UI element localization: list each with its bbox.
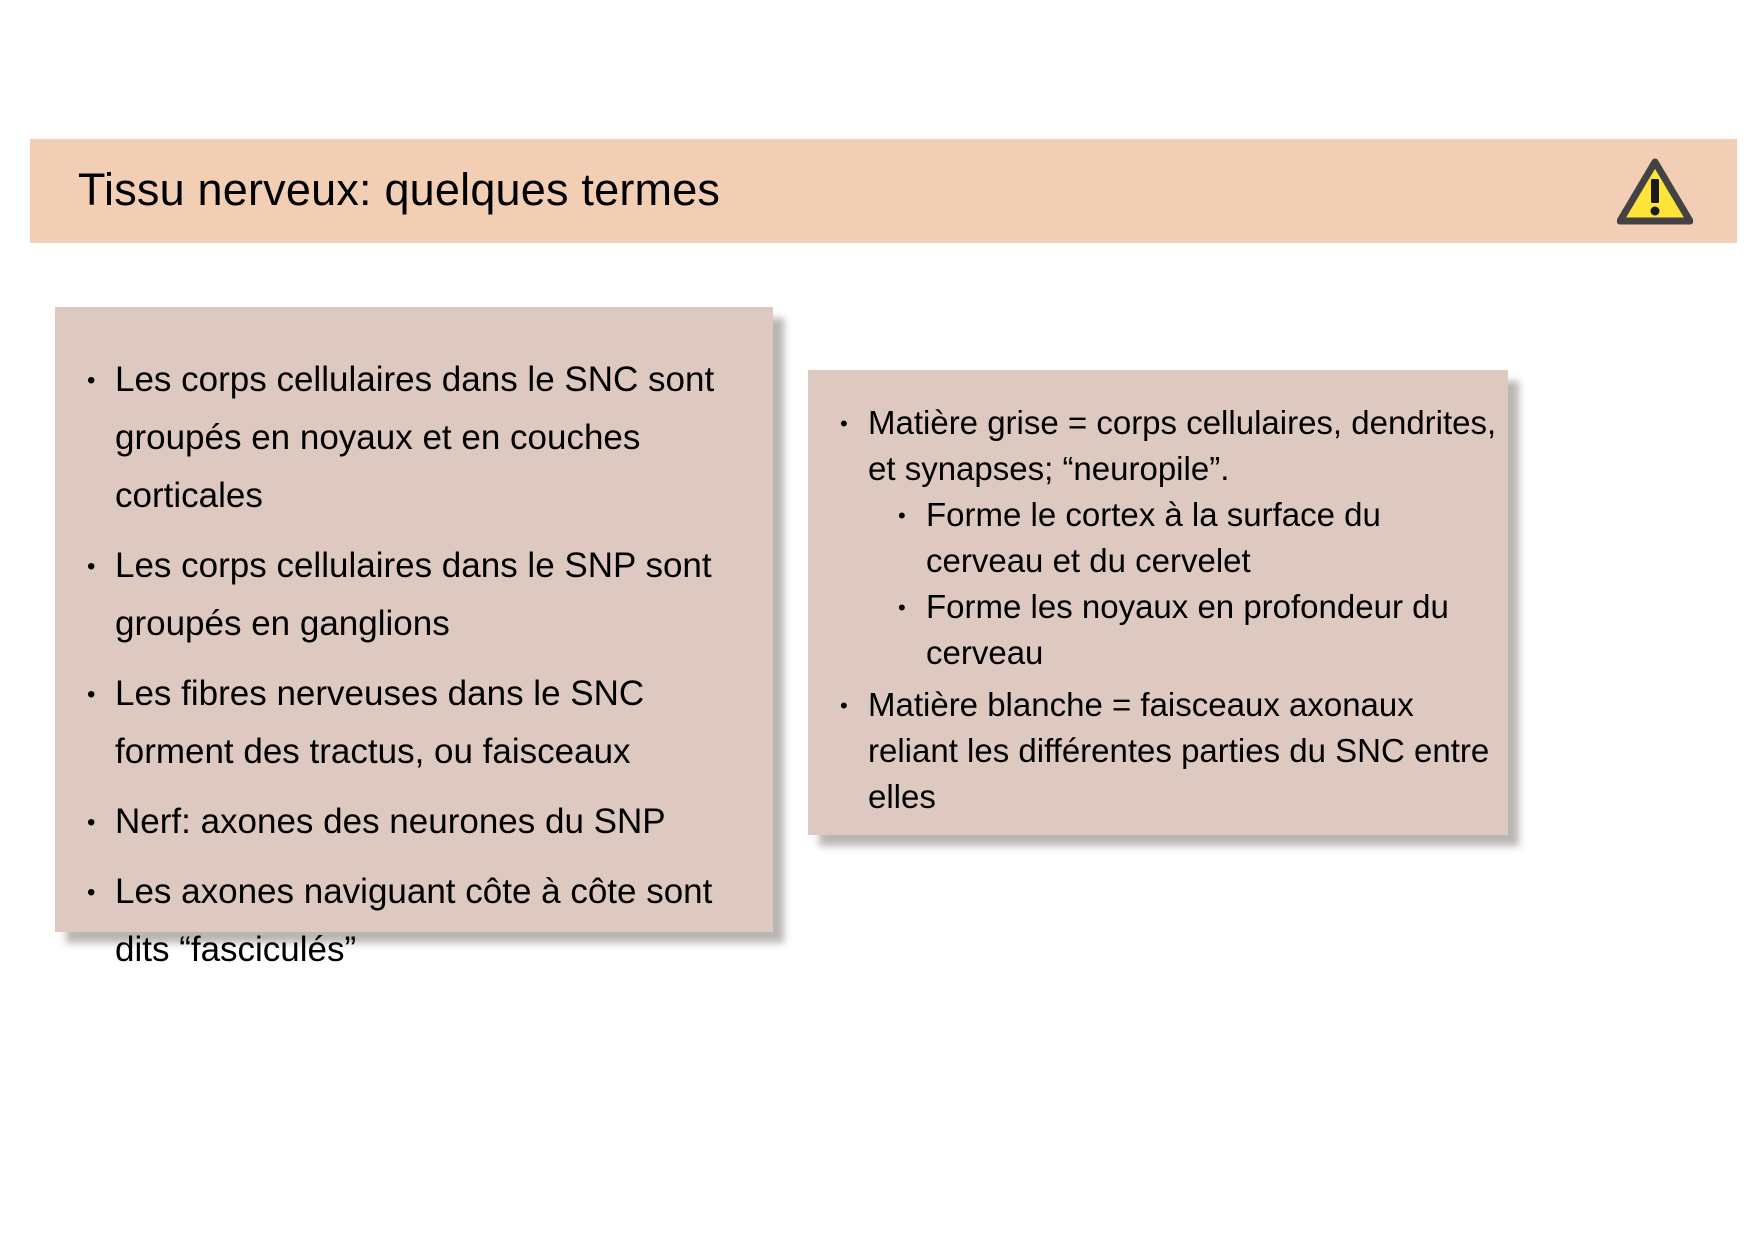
right-content-box: • Matière grise = corps cellulaires, den…	[808, 370, 1508, 835]
sub-list-item: • Forme le cortex à la surface du cervea…	[868, 492, 1498, 584]
bullet-icon: •	[87, 794, 95, 852]
bullet-icon: •	[87, 864, 95, 922]
sub-list-item-text: Forme les noyaux en profondeur du cervea…	[926, 588, 1449, 671]
bullet-icon: •	[87, 352, 95, 410]
list-item-text: Les corps cellulaires dans le SNP sont g…	[115, 537, 755, 653]
list-item-text: Les axones naviguant côte à côte sont di…	[115, 863, 755, 979]
list-item-text: Matière blanche = faisceaux axonaux reli…	[868, 682, 1498, 820]
list-item: • Les corps cellulaires dans le SNC sont…	[75, 351, 755, 525]
bullet-icon: •	[840, 401, 848, 447]
list-item: • Les corps cellulaires dans le SNP sont…	[75, 537, 755, 653]
list-item: • Les fibres nerveuses dans le SNC forme…	[75, 665, 755, 781]
sub-list-item-text: Forme le cortex à la surface du cerveau …	[926, 496, 1381, 579]
page-title: Tissu nerveux: quelques termes	[78, 164, 720, 216]
title-banner: Tissu nerveux: quelques termes	[30, 139, 1737, 243]
list-item-text: Nerf: axones des neurones du SNP	[115, 793, 755, 851]
list-item: • Matière grise = corps cellulaires, den…	[828, 400, 1498, 676]
list-item: • Matière blanche = faisceaux axonaux re…	[828, 682, 1498, 820]
sub-list-item: • Forme les noyaux en profondeur du cerv…	[868, 584, 1498, 676]
bullet-icon: •	[898, 493, 906, 539]
list-item-text: Matière grise = corps cellulaires, dendr…	[868, 400, 1498, 492]
left-content-box: • Les corps cellulaires dans le SNC sont…	[55, 307, 773, 932]
left-bullet-list: • Les corps cellulaires dans le SNC sont…	[75, 351, 755, 979]
warning-triangle-icon	[1617, 157, 1693, 225]
bullet-icon: •	[898, 585, 906, 631]
list-item-text: Les corps cellulaires dans le SNC sont g…	[115, 351, 755, 525]
list-item: • Nerf: axones des neurones du SNP	[75, 793, 755, 851]
sub-bullet-list: • Forme le cortex à la surface du cervea…	[868, 492, 1498, 676]
list-item: • Les axones naviguant côte à côte sont …	[75, 863, 755, 979]
bullet-icon: •	[87, 666, 95, 724]
bullet-icon: •	[87, 538, 95, 596]
right-bullet-list: • Matière grise = corps cellulaires, den…	[828, 400, 1498, 820]
list-item-text: Les fibres nerveuses dans le SNC forment…	[115, 665, 755, 781]
bullet-icon: •	[840, 683, 848, 729]
